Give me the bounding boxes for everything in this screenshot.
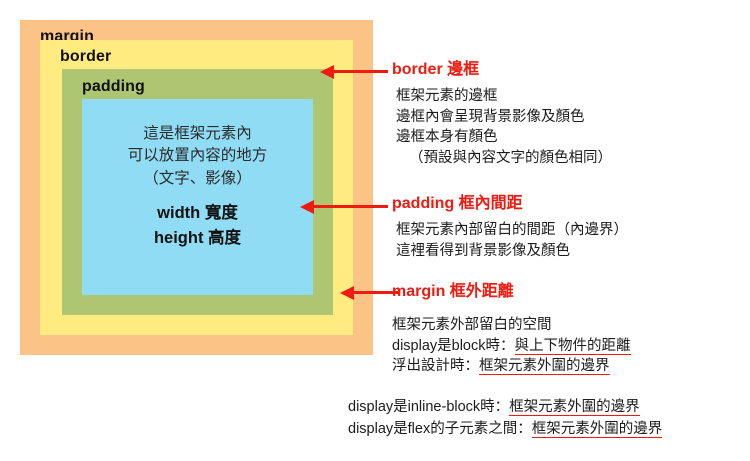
annotation-border-line-4: （預設與內容文字的顏色相同） bbox=[396, 148, 612, 169]
content-line-3: （文字、影像） bbox=[82, 168, 313, 190]
content-width-label: width 寬度 bbox=[82, 202, 313, 226]
annotation-margin-line-1: 框架元素外部留白的空間 bbox=[392, 315, 631, 336]
content-layer: 這是框架元素內 可以放置內容的地方 （文字、影像） width 寬度 heigh… bbox=[82, 99, 313, 295]
annotation-margin-line-2-text: display是block時： bbox=[392, 338, 515, 354]
annotation-margin-line-3: 浮出設計時：框架元素外圍的邊界 bbox=[392, 356, 631, 377]
annotation-extra-line-2-underlined: 框架元素外圍的邊界 bbox=[532, 421, 663, 438]
border-layer-label: border bbox=[60, 48, 111, 66]
annotation-margin-body: 框架元素外部留白的空間 display是block時：與上下物件的距離 浮出設計… bbox=[392, 315, 631, 377]
padding-layer-label: padding bbox=[82, 78, 145, 96]
annotation-margin-line-2-underlined: 與上下物件的距離 bbox=[515, 338, 631, 355]
annotation-extra-line-1-text: display是inline-block時： bbox=[348, 399, 509, 415]
annotation-border-line-2: 邊框內會呈現背景影像及顏色 bbox=[396, 107, 612, 128]
annotation-padding: padding 框內間距 框架元素內部留白的間距（內邊界） 這裡看得到背景影像及… bbox=[392, 194, 628, 261]
annotation-border-body: 框架元素的邊框 邊框內會呈現背景影像及顏色 邊框本身有顏色 （預設與內容文字的顏… bbox=[392, 86, 612, 168]
annotation-margin: margin 框外距離 框架元素外部留白的空間 display是block時：與… bbox=[392, 282, 631, 377]
box-model-diagram: margin border padding 這是框架元素內 可以放置內容的地方 … bbox=[20, 20, 373, 355]
annotation-extra-line-1: display是inline-block時：框架元素外圍的邊界 bbox=[348, 397, 662, 419]
content-height-label: height 高度 bbox=[82, 227, 313, 251]
annotation-extra-line-2-text: display是flex的子元素之間： bbox=[348, 421, 532, 437]
annotation-extra-line-1-underlined: 框架元素外圍的邊界 bbox=[509, 399, 640, 416]
annotation-padding-line-1: 框架元素內部留白的間距（內邊界） bbox=[396, 220, 628, 241]
annotation-border-line-1: 框架元素的邊框 bbox=[396, 86, 612, 107]
annotation-border-title: border 邊框 bbox=[392, 60, 612, 79]
annotation-extra: display是inline-block時：框架元素外圍的邊界 display是… bbox=[348, 397, 662, 441]
annotation-margin-line-3-underlined: 框架元素外圍的邊界 bbox=[479, 358, 610, 375]
content-box-text: 這是框架元素內 可以放置內容的地方 （文字、影像） width 寬度 heigh… bbox=[82, 123, 313, 251]
annotation-padding-title: padding 框內間距 bbox=[392, 194, 628, 213]
annotation-margin-line-3-text: 浮出設計時： bbox=[392, 358, 479, 374]
annotation-border: border 邊框 框架元素的邊框 邊框內會呈現背景影像及顏色 邊框本身有顏色 … bbox=[392, 60, 612, 169]
annotation-padding-line-2: 這裡看得到背景影像及顏色 bbox=[396, 241, 628, 262]
annotation-margin-title: margin 框外距離 bbox=[392, 282, 631, 301]
annotation-extra-line-2: display是flex的子元素之間：框架元素外圍的邊界 bbox=[348, 419, 662, 441]
annotation-margin-line-2: display是block時：與上下物件的距離 bbox=[392, 336, 631, 357]
content-line-1: 這是框架元素內 bbox=[82, 123, 313, 145]
content-line-2: 可以放置內容的地方 bbox=[82, 145, 313, 167]
annotation-border-line-3: 邊框本身有顏色 bbox=[396, 127, 612, 148]
annotation-padding-body: 框架元素內部留白的間距（內邊界） 這裡看得到背景影像及顏色 bbox=[392, 220, 628, 261]
